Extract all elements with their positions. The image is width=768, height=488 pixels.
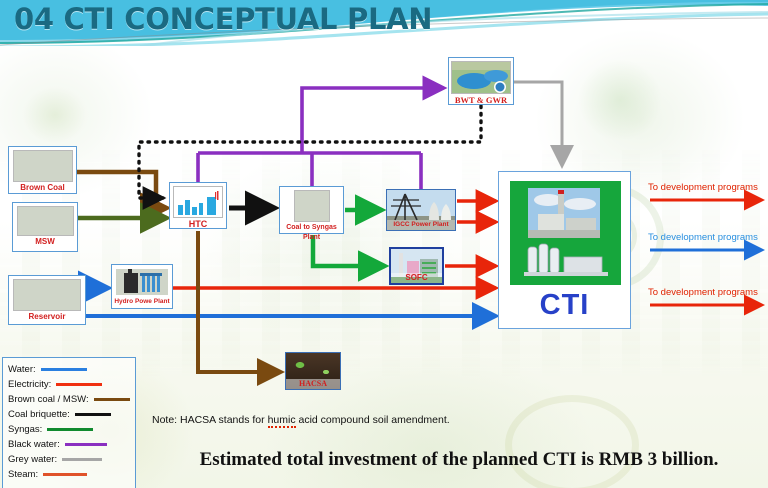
node-igcc-power-plant[interactable]: IGCC Power Plant bbox=[386, 189, 456, 231]
node-reservoir[interactable]: Reservoir bbox=[8, 275, 86, 325]
node-label: HTC bbox=[170, 219, 226, 229]
node-label: SOFC bbox=[391, 273, 442, 283]
brown-coal-image bbox=[13, 150, 73, 182]
note-suffix: acid compound soil amendment. bbox=[296, 414, 450, 426]
node-htc[interactable]: HTC bbox=[169, 182, 227, 229]
node-label: BWT & GWR bbox=[449, 95, 513, 105]
cti-plant-image bbox=[528, 188, 600, 238]
node-sofc[interactable]: SOFC bbox=[389, 247, 444, 285]
node-label: MSW bbox=[13, 237, 77, 247]
syngas-plant-image bbox=[294, 190, 330, 222]
slide-canvas: 04 CTI CONCEPTUAL PLAN bbox=[0, 0, 768, 488]
legend-swatch-steam bbox=[43, 473, 87, 476]
node-label: Brown Coal bbox=[9, 183, 76, 193]
node-hydro-power-plant[interactable]: Hydro Powe Plant bbox=[111, 264, 173, 309]
note-prefix: Note: HACSA stands for bbox=[152, 414, 268, 426]
conclusion-text: Estimated total investment of the planne… bbox=[0, 449, 768, 471]
output-label-water: To development programs bbox=[648, 232, 758, 243]
hydro-plant-icon bbox=[115, 268, 169, 296]
node-brown-coal[interactable]: Brown Coal bbox=[8, 146, 77, 194]
bwt-image bbox=[451, 61, 511, 94]
legend-item-coal-briquette: Coal briquette: bbox=[8, 407, 135, 422]
bwt-glyph bbox=[452, 62, 510, 93]
node-label: IGCC Power Plant bbox=[387, 220, 455, 230]
legend-item-brown-coal-msw: Brown coal / MSW: bbox=[8, 392, 135, 407]
node-coal-to-syngas-plant[interactable]: Coal to Syngas Plant bbox=[279, 186, 344, 234]
legend-item-syngas: Syngas: bbox=[8, 422, 135, 437]
cti-label: CTI bbox=[499, 289, 630, 322]
node-label: Hydro Powe Plant bbox=[112, 297, 172, 307]
legend-label: Water: bbox=[8, 364, 36, 375]
node-label: HACSA bbox=[286, 379, 340, 389]
legend-item-electricity: Electricity: bbox=[8, 377, 135, 392]
cti-green-panel bbox=[510, 181, 621, 285]
legend-label: Coal briquette: bbox=[8, 409, 70, 420]
note-highlight: humic bbox=[268, 414, 296, 428]
cti-tanks-image bbox=[524, 241, 608, 279]
legend-swatch-water bbox=[41, 368, 87, 371]
node-cti[interactable]: CTI bbox=[498, 171, 631, 329]
msw-image bbox=[17, 206, 74, 236]
legend-swatch-syngas bbox=[47, 428, 93, 431]
conclusion-label: Estimated total investment of the planne… bbox=[50, 449, 719, 470]
reservoir-image bbox=[13, 279, 81, 311]
legend-swatch-black-water bbox=[65, 443, 107, 446]
node-hacsa[interactable]: HACSA bbox=[285, 352, 341, 390]
node-label: Reservoir bbox=[9, 312, 85, 322]
node-bwt-gwr[interactable]: BWT & GWR bbox=[448, 57, 514, 105]
legend-label: Brown coal / MSW: bbox=[8, 394, 89, 405]
output-label-electricity2: To development programs bbox=[648, 287, 758, 298]
output-label-electricity: To development programs bbox=[648, 182, 758, 193]
cti-tanks-glyph bbox=[524, 241, 608, 279]
note-text: Note: HACSA stands for humic acid compou… bbox=[152, 414, 450, 426]
cti-plant-glyph bbox=[528, 188, 600, 238]
legend-swatch-brown-coal bbox=[94, 398, 130, 401]
legend-swatch-coal-briquette bbox=[75, 413, 111, 416]
node-label: Coal to Syngas Plant bbox=[280, 223, 343, 243]
legend-label: Syngas: bbox=[8, 424, 42, 435]
legend-swatch-electricity bbox=[56, 383, 102, 386]
node-msw[interactable]: MSW bbox=[12, 202, 78, 252]
legend-label: Electricity: bbox=[8, 379, 51, 390]
htc-glyph bbox=[174, 187, 222, 217]
legend-item-water: Water: bbox=[8, 362, 135, 377]
htc-image bbox=[173, 186, 223, 218]
hydro-plant-glyph bbox=[116, 269, 168, 295]
